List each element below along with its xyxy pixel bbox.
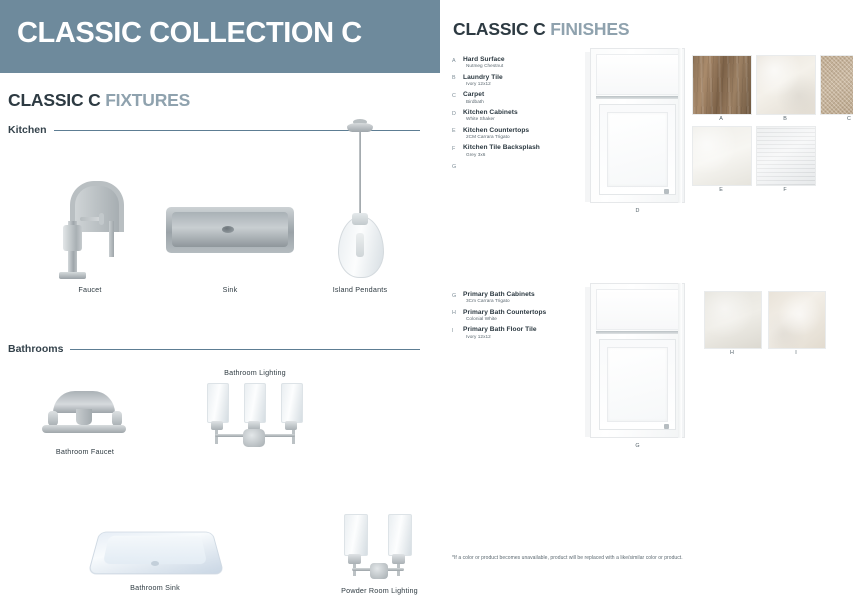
fixture-bathroom-lighting: Bathroom Lighting xyxy=(195,368,315,455)
legend-name: Kitchen Cabinets xyxy=(463,109,572,116)
swatch-letter: B xyxy=(756,116,814,122)
swatch-tile xyxy=(768,291,826,349)
fixture-bathroom-faucet: Bathroom Faucet xyxy=(20,385,150,456)
swatch-tile xyxy=(692,55,752,115)
group-header-bathrooms: Bathrooms xyxy=(8,343,420,355)
swatch-hard-surface: A xyxy=(692,55,750,113)
swatch-letter: C xyxy=(820,116,853,122)
powder-room-light-icon xyxy=(322,508,437,586)
legend-sub: White Shaker xyxy=(463,116,572,121)
legend-name: Laundry Tile xyxy=(463,74,572,81)
swatch-bath-countertops: H xyxy=(704,291,760,347)
fixture-island-pendants: Island Pendants xyxy=(305,113,415,294)
legend-sub: Ivory 12x12 xyxy=(463,81,572,86)
finishes-title-bold: CLASSIC C xyxy=(453,19,546,39)
swatch-tile xyxy=(692,126,752,186)
legend-name: Kitchen Countertops xyxy=(463,127,572,134)
swatch-bath-floor-tile: I xyxy=(768,291,824,347)
legend-letter: E xyxy=(452,128,456,134)
legend-item: I Primary Bath Floor Tile Ivory 12x12 xyxy=(452,326,572,340)
kitchen-sink-icon xyxy=(160,173,300,285)
swatch-laundry-tile: B xyxy=(756,55,814,113)
finishes-column: CLASSIC C FINISHES A Hard Surface Nutmeg… xyxy=(440,0,853,569)
fixtures-title-bold: CLASSIC C xyxy=(8,90,101,110)
fixture-caption: Powder Room Lighting xyxy=(322,586,437,595)
swatch-letter: H xyxy=(704,350,760,356)
cabinet-door-kitchen: D xyxy=(590,48,685,203)
legend-sub: Grey 3x6 xyxy=(463,152,572,157)
legend-sub: Colonial White xyxy=(463,316,572,321)
finishes-title-light: FINISHES xyxy=(550,19,629,39)
legend-sub: Nutmeg Chestnut xyxy=(463,63,572,68)
finishes-legend-primary: A Hard Surface Nutmeg Chestnut B Laundry… xyxy=(452,56,572,180)
legend-item: G xyxy=(452,162,572,176)
legend-sub: Ivory 12x12 xyxy=(463,334,572,339)
fixture-sink: Sink xyxy=(160,173,300,294)
swatch-kitchen-countertops: E xyxy=(692,126,750,184)
legend-item: A Hard Surface Nutmeg Chestnut xyxy=(452,56,572,70)
legend-item: E Kitchen Countertops 2CM Carrara Trigat… xyxy=(452,127,572,141)
legend-name: Primary Bath Countertops xyxy=(463,309,572,316)
legend-letter: B xyxy=(452,75,456,81)
legend-item: C Carpet Birdbath xyxy=(452,91,572,105)
fixtures-column: CLASSIC C FIXTURES Kitchen Faucet Sink I… xyxy=(0,73,440,569)
fixtures-section-title: CLASSIC C FIXTURES xyxy=(8,90,190,111)
fixture-caption: Faucet xyxy=(30,285,150,294)
group-rule-bathrooms xyxy=(70,349,420,350)
legend-item: G Primary Bath Cabinets 3Cm Carrara Trig… xyxy=(452,291,572,305)
fixture-faucet: Faucet xyxy=(30,173,150,294)
kitchen-faucet-icon xyxy=(30,173,150,285)
swatch-kitchen-backsplash: F xyxy=(756,126,814,184)
legend-name: Kitchen Tile Backsplash xyxy=(463,144,572,151)
header-bar: CLASSIC COLLECTION C xyxy=(0,0,440,73)
pendant-light-icon xyxy=(305,113,415,285)
bathroom-faucet-icon xyxy=(20,385,150,447)
finishes-legend-primary-bath: G Primary Bath Cabinets 3Cm Carrara Trig… xyxy=(452,291,572,344)
cabinet-door-primary-bath: G xyxy=(590,283,685,438)
swatch-tile xyxy=(756,126,816,186)
fixtures-title-light: FIXTURES xyxy=(105,90,190,110)
bathroom-vanity-light-icon xyxy=(195,377,315,455)
swatch-letter: F xyxy=(756,187,814,193)
footnote-disclaimer: *If a color or product becomes unavailab… xyxy=(452,555,683,561)
fixture-caption: Sink xyxy=(160,285,300,294)
legend-item: D Kitchen Cabinets White Shaker xyxy=(452,109,572,123)
fixture-caption: Island Pendants xyxy=(305,285,415,294)
legend-sub: 3Cm Carrara Trigato xyxy=(463,298,572,303)
legend-item: F Kitchen Tile Backsplash Grey 3x6 xyxy=(452,144,572,158)
legend-sub: 2CM Carrara Trigato xyxy=(463,134,572,139)
swatch-carpet: C xyxy=(820,55,853,113)
legend-letter: G xyxy=(452,164,456,170)
legend-sub: Birdbath xyxy=(463,99,572,104)
bathroom-sink-icon xyxy=(90,521,220,583)
cabinet-letter: D xyxy=(590,208,685,214)
legend-item: H Primary Bath Countertops Colonial Whit… xyxy=(452,309,572,323)
finishes-section-title: CLASSIC C FINISHES xyxy=(453,19,629,40)
swatch-tile xyxy=(820,55,853,115)
legend-name: Carpet xyxy=(463,91,572,98)
swatch-letter: I xyxy=(768,350,824,356)
page-title: CLASSIC COLLECTION C xyxy=(17,19,362,48)
fixture-caption: Bathroom Sink xyxy=(90,583,220,592)
fixture-caption: Bathroom Faucet xyxy=(20,447,150,456)
legend-name: Primary Bath Cabinets xyxy=(463,291,572,298)
swatch-letter: E xyxy=(692,187,750,193)
legend-letter: D xyxy=(452,111,456,117)
legend-item: B Laundry Tile Ivory 12x12 xyxy=(452,74,572,88)
legend-letter: F xyxy=(452,146,455,152)
fixture-caption: Bathroom Lighting xyxy=(195,368,315,377)
legend-letter: I xyxy=(452,328,454,334)
legend-letter: A xyxy=(452,58,456,64)
group-label-kitchen: Kitchen xyxy=(8,124,47,136)
legend-letter: H xyxy=(452,310,456,316)
legend-name: Hard Surface xyxy=(463,56,572,63)
group-label-bathrooms: Bathrooms xyxy=(8,343,63,355)
swatch-letter: A xyxy=(692,116,750,122)
legend-letter: G xyxy=(452,293,456,299)
cabinet-letter: G xyxy=(590,443,685,449)
swatch-tile xyxy=(704,291,762,349)
legend-letter: C xyxy=(452,93,456,99)
fixture-bathroom-sink: Bathroom Sink xyxy=(90,521,220,592)
fixture-powder-room-lighting: Powder Room Lighting xyxy=(322,508,437,595)
swatch-tile xyxy=(756,55,816,115)
legend-name: Primary Bath Floor Tile xyxy=(463,326,572,333)
